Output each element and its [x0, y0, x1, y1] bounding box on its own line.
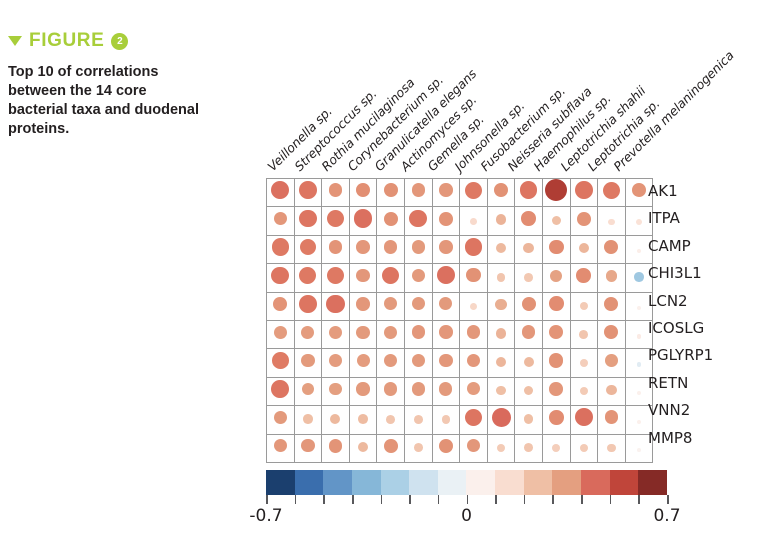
matrix-cell [432, 377, 460, 405]
correlation-dot [496, 386, 505, 395]
matrix-cell [294, 235, 322, 263]
matrix-cell [542, 349, 570, 377]
correlation-dot [549, 325, 563, 339]
correlation-dot [632, 183, 646, 197]
matrix-cell [515, 292, 543, 320]
correlation-dot [470, 218, 477, 225]
correlation-dot [354, 209, 372, 227]
matrix-cell [598, 292, 626, 320]
correlation-dot [439, 240, 453, 254]
matrix-cell [487, 377, 515, 405]
matrix-cell [404, 264, 432, 292]
correlation-dot [580, 444, 588, 452]
correlation-dot [606, 385, 616, 395]
matrix-row [267, 207, 653, 235]
correlation-dot [496, 214, 507, 225]
correlation-dot [580, 387, 588, 395]
matrix-row [267, 179, 653, 207]
row-label-chi3l1: CHI3L1 [648, 260, 713, 287]
matrix-cell [515, 207, 543, 235]
matrix-row [267, 406, 653, 434]
correlation-dot [439, 354, 453, 368]
correlation-dot [412, 183, 426, 197]
matrix-cell [349, 320, 377, 348]
matrix-cell [377, 179, 405, 207]
correlation-dot [465, 182, 482, 199]
matrix-cell [294, 349, 322, 377]
colorbar-tick [667, 495, 669, 504]
correlation-dot [437, 266, 455, 284]
correlation-dot [329, 183, 343, 197]
correlation-dot [637, 334, 642, 339]
correlation-dot [580, 302, 588, 310]
colorbar-label-max: 0.7 [653, 506, 680, 526]
correlation-dot [577, 212, 591, 226]
correlation-dot [384, 382, 397, 395]
matrix-cell [460, 264, 488, 292]
matrix-cell [515, 434, 543, 462]
colorbar-tick [495, 495, 497, 504]
correlation-dot [271, 380, 289, 398]
colorbar-tick [295, 495, 297, 504]
correlation-dot [329, 383, 342, 396]
row-label-camp: CAMP [648, 233, 713, 260]
matrix-cell [322, 349, 350, 377]
correlation-dot [604, 240, 618, 254]
correlation-dot [637, 362, 642, 367]
matrix-cell [267, 377, 295, 405]
matrix-cell [460, 406, 488, 434]
correlation-dot [357, 354, 370, 367]
correlation-dot [550, 270, 562, 282]
colorbar-tick-labels: -0.700.7 [266, 506, 667, 530]
colorbar-tick [467, 495, 469, 504]
matrix-cell [349, 207, 377, 235]
matrix-cell [432, 264, 460, 292]
colorbar-label-min: -0.7 [249, 506, 282, 526]
matrix-cell [377, 235, 405, 263]
matrix-cell [294, 406, 322, 434]
correlation-dot [549, 353, 563, 367]
correlation-dot [637, 420, 641, 424]
matrix-cell [404, 377, 432, 405]
correlation-dot [605, 354, 618, 367]
correlation-dot [356, 297, 370, 311]
correlation-dot [496, 243, 506, 253]
matrix-cell [294, 264, 322, 292]
correlation-dot [330, 414, 340, 424]
matrix-cell [542, 292, 570, 320]
matrix-cell [322, 406, 350, 434]
matrix-cell [267, 264, 295, 292]
correlation-dot [439, 297, 452, 310]
correlation-dot [412, 297, 425, 310]
matrix-cell [294, 207, 322, 235]
matrix-cell [460, 207, 488, 235]
matrix-cell [322, 292, 350, 320]
matrix-cell [598, 377, 626, 405]
matrix-cell [294, 320, 322, 348]
matrix-cell [404, 434, 432, 462]
matrix-cell [432, 179, 460, 207]
matrix-cell [377, 320, 405, 348]
correlation-dot [467, 382, 480, 395]
colorbar-tick [323, 495, 325, 504]
correlation-dot [467, 439, 481, 453]
matrix-cell [598, 320, 626, 348]
matrix-cell [322, 434, 350, 462]
matrix-cell [322, 179, 350, 207]
correlation-dot [524, 414, 533, 423]
correlation-dot [521, 211, 536, 226]
matrix-cell [267, 207, 295, 235]
colorbar-tick [266, 495, 268, 504]
figure-label: FIGURE [29, 30, 104, 52]
matrix-cell [267, 434, 295, 462]
matrix-cell [570, 320, 598, 348]
colorbar-tick [638, 495, 640, 504]
colorbar-segment-13 [610, 470, 639, 495]
correlation-matrix [266, 178, 653, 463]
matrix-cell [598, 207, 626, 235]
correlation-dot [524, 443, 533, 452]
matrix-cell [404, 235, 432, 263]
correlation-dot [604, 297, 618, 311]
matrix-cell [377, 377, 405, 405]
correlation-dot [634, 272, 643, 281]
figure-caption-block: FIGURE 2 Top 10 of correlations between … [8, 30, 238, 140]
matrix-cell [570, 235, 598, 263]
matrix-cell [570, 264, 598, 292]
correlation-dot [299, 267, 316, 284]
colorbar-tick [524, 495, 526, 504]
correlation-dot [580, 359, 588, 367]
correlation-dot [301, 354, 314, 367]
correlation-dot [384, 326, 397, 339]
matrix-row [267, 349, 653, 377]
matrix-cell [349, 406, 377, 434]
colorbar-segment-12 [581, 470, 610, 495]
matrix-cell [404, 349, 432, 377]
correlation-dot [414, 443, 423, 452]
correlation-dot [272, 352, 289, 369]
matrix-cell [404, 179, 432, 207]
matrix-cell [349, 377, 377, 405]
matrix-cell [515, 179, 543, 207]
matrix-cell [460, 235, 488, 263]
matrix-row [267, 292, 653, 320]
correlation-dot [579, 330, 588, 339]
correlation-dot [329, 439, 343, 453]
matrix-cell [349, 434, 377, 462]
correlation-dot [384, 354, 397, 367]
correlation-dot [637, 306, 641, 310]
matrix-cell [322, 235, 350, 263]
correlation-dot [524, 357, 534, 367]
correlation-dot [522, 325, 536, 339]
correlation-dot [356, 183, 370, 197]
matrix-cell [432, 349, 460, 377]
correlation-dot [412, 354, 425, 367]
correlation-dot [494, 183, 508, 197]
correlation-dot [382, 267, 400, 285]
matrix-cell [377, 207, 405, 235]
row-label-vnn2: VNN2 [648, 397, 713, 424]
correlation-dot [384, 240, 398, 254]
colorbar-tick [381, 495, 383, 504]
colorbar-ticks [266, 495, 667, 504]
correlation-dot [470, 303, 477, 310]
matrix-cell [460, 349, 488, 377]
correlation-dot [300, 239, 317, 256]
matrix-cell [487, 406, 515, 434]
matrix-cell [487, 235, 515, 263]
figure-header: FIGURE 2 [8, 30, 238, 52]
matrix-cell [267, 406, 295, 434]
correlation-dot [549, 296, 564, 311]
matrix-cell [322, 207, 350, 235]
matrix-cell [349, 349, 377, 377]
correlation-dot [271, 267, 289, 285]
correlation-dot [523, 243, 533, 253]
matrix-row [267, 434, 653, 462]
matrix-cell [542, 377, 570, 405]
matrix-cell [267, 235, 295, 263]
matrix-cell [487, 179, 515, 207]
matrix-cell [267, 349, 295, 377]
matrix-cell [542, 207, 570, 235]
correlation-dot [414, 415, 423, 424]
matrix-cell [322, 264, 350, 292]
matrix-cell [267, 320, 295, 348]
row-label-itpa: ITPA [648, 205, 713, 232]
matrix-cell [570, 349, 598, 377]
colorbar-segment-8 [466, 470, 495, 495]
correlation-dot [274, 411, 287, 424]
correlation-dot [356, 382, 369, 395]
matrix-cell [404, 292, 432, 320]
triangle-down-icon [8, 36, 22, 46]
correlation-dot [496, 357, 506, 367]
correlation-dot [605, 410, 619, 424]
colorbar-segment-11 [552, 470, 581, 495]
matrix-cell [487, 264, 515, 292]
correlation-dot [492, 408, 511, 427]
matrix-cell [432, 207, 460, 235]
matrix-cell [598, 406, 626, 434]
matrix-cell [570, 434, 598, 462]
correlation-dot [358, 414, 368, 424]
matrix-cell [404, 320, 432, 348]
colorbar-segment-1 [266, 470, 295, 495]
colorbar-segment-4 [352, 470, 381, 495]
correlation-dot [299, 295, 317, 313]
correlation-dot [384, 212, 398, 226]
correlation-dot [358, 442, 368, 452]
matrix-cell [542, 264, 570, 292]
matrix-row [267, 264, 653, 292]
correlation-dot [439, 382, 452, 395]
matrix-cell [487, 207, 515, 235]
correlation-dot [274, 326, 287, 339]
correlation-dot [329, 354, 342, 367]
matrix-cell [432, 320, 460, 348]
correlation-dot [497, 444, 505, 452]
matrix-cell [515, 377, 543, 405]
row-label-retn: RETN [648, 370, 713, 397]
matrix-cell [460, 292, 488, 320]
matrix-cell [598, 434, 626, 462]
correlation-dot [522, 297, 536, 311]
correlation-dot [637, 391, 641, 395]
correlation-dot [301, 439, 315, 453]
figure-number-badge: 2 [111, 33, 128, 50]
correlation-dot [356, 269, 370, 283]
matrix-cell [349, 264, 377, 292]
correlation-dot [412, 325, 426, 339]
matrix-cell [598, 264, 626, 292]
matrix-cell [542, 235, 570, 263]
correlation-dot [579, 243, 589, 253]
matrix-cell [432, 434, 460, 462]
matrix-cell [322, 320, 350, 348]
matrix-cell [432, 406, 460, 434]
matrix-cell [542, 320, 570, 348]
correlation-dot [576, 268, 591, 283]
matrix-cell [460, 377, 488, 405]
matrix-cell [487, 349, 515, 377]
matrix-cell [377, 292, 405, 320]
matrix-cell [294, 179, 322, 207]
matrix-cell [598, 179, 626, 207]
colorbar-segment-14 [638, 470, 667, 495]
colorbar-segment-10 [524, 470, 553, 495]
correlation-dot [329, 240, 343, 254]
matrix-cell [267, 292, 295, 320]
matrix-cell [377, 349, 405, 377]
correlation-dot [575, 181, 593, 199]
matrix-cell [404, 406, 432, 434]
row-label-icoslg: ICOSLG [648, 315, 713, 342]
correlation-dot [303, 414, 312, 423]
colorbar-segment-9 [495, 470, 524, 495]
matrix-cell [432, 235, 460, 263]
correlation-dot [604, 325, 618, 339]
colorbar-segment-6 [409, 470, 438, 495]
matrix-cell [377, 264, 405, 292]
correlation-dot [608, 219, 615, 226]
correlation-dot [439, 212, 453, 226]
matrix-cell [598, 349, 626, 377]
correlation-dot [467, 325, 481, 339]
matrix-cell [460, 179, 488, 207]
colorbar-segment-7 [438, 470, 467, 495]
matrix-cell [460, 434, 488, 462]
matrix-cell [570, 207, 598, 235]
correlation-dot [412, 240, 425, 253]
row-label-lcn2: LCN2 [648, 288, 713, 315]
correlation-dot [271, 181, 289, 199]
correlation-dot [439, 325, 453, 339]
correlation-grid-body [267, 179, 653, 463]
matrix-cell [570, 377, 598, 405]
colorbar-segment-3 [323, 470, 352, 495]
row-label-pglyrp1: PGLYRP1 [648, 342, 713, 369]
correlation-grid [266, 178, 653, 463]
colorbar-gradient [266, 470, 667, 495]
correlation-dot [326, 295, 344, 313]
correlation-dot [356, 326, 369, 339]
matrix-cell [515, 320, 543, 348]
colorbar-tick [409, 495, 411, 504]
correlation-dot [299, 181, 317, 199]
matrix-cell [515, 349, 543, 377]
correlation-dot [607, 444, 616, 453]
matrix-cell [515, 264, 543, 292]
correlation-dot [274, 439, 288, 453]
correlation-dot [384, 297, 397, 310]
correlation-dot [301, 326, 314, 339]
correlation-dot [386, 415, 395, 424]
colorbar-tick [438, 495, 440, 504]
correlation-dot [299, 210, 317, 228]
correlation-dot [549, 382, 563, 396]
correlation-dot [274, 212, 288, 226]
colorbar-legend: -0.700.7 [266, 470, 667, 530]
matrix-cell [294, 434, 322, 462]
row-label-mmp8: MMP8 [648, 425, 713, 452]
matrix-row [267, 235, 653, 263]
row-labels: AK1ITPACAMPCHI3L1LCN2ICOSLGPGLYRP1RETNVN… [648, 178, 713, 452]
matrix-cell [487, 434, 515, 462]
correlation-dot [606, 270, 618, 282]
correlation-dot [497, 273, 506, 282]
correlation-dot [439, 439, 453, 453]
correlation-dot [384, 439, 398, 453]
correlation-dot [524, 273, 533, 282]
matrix-cell [515, 235, 543, 263]
matrix-cell [487, 292, 515, 320]
matrix-cell [487, 320, 515, 348]
matrix-cell [322, 377, 350, 405]
correlation-dot [439, 183, 453, 197]
colorbar-label-mid: 0 [461, 506, 472, 526]
colorbar-segment-5 [381, 470, 410, 495]
matrix-cell [349, 292, 377, 320]
correlation-dot [327, 267, 344, 284]
correlation-dot [327, 210, 344, 227]
correlation-dot [465, 238, 483, 256]
matrix-cell [542, 434, 570, 462]
matrix-cell [349, 179, 377, 207]
correlation-dot [273, 297, 287, 311]
correlation-dot [302, 383, 315, 396]
matrix-cell [460, 320, 488, 348]
matrix-cell [432, 292, 460, 320]
correlation-dot [465, 409, 483, 427]
correlation-dot [637, 448, 641, 452]
correlation-dot [356, 240, 370, 254]
correlation-dot [603, 182, 620, 199]
matrix-cell [598, 235, 626, 263]
correlation-dot [549, 240, 564, 255]
correlation-dot [412, 269, 425, 282]
matrix-cell [542, 406, 570, 434]
matrix-cell [267, 179, 295, 207]
colorbar-tick [581, 495, 583, 504]
correlation-dot [637, 249, 641, 253]
correlation-dot [412, 382, 425, 395]
